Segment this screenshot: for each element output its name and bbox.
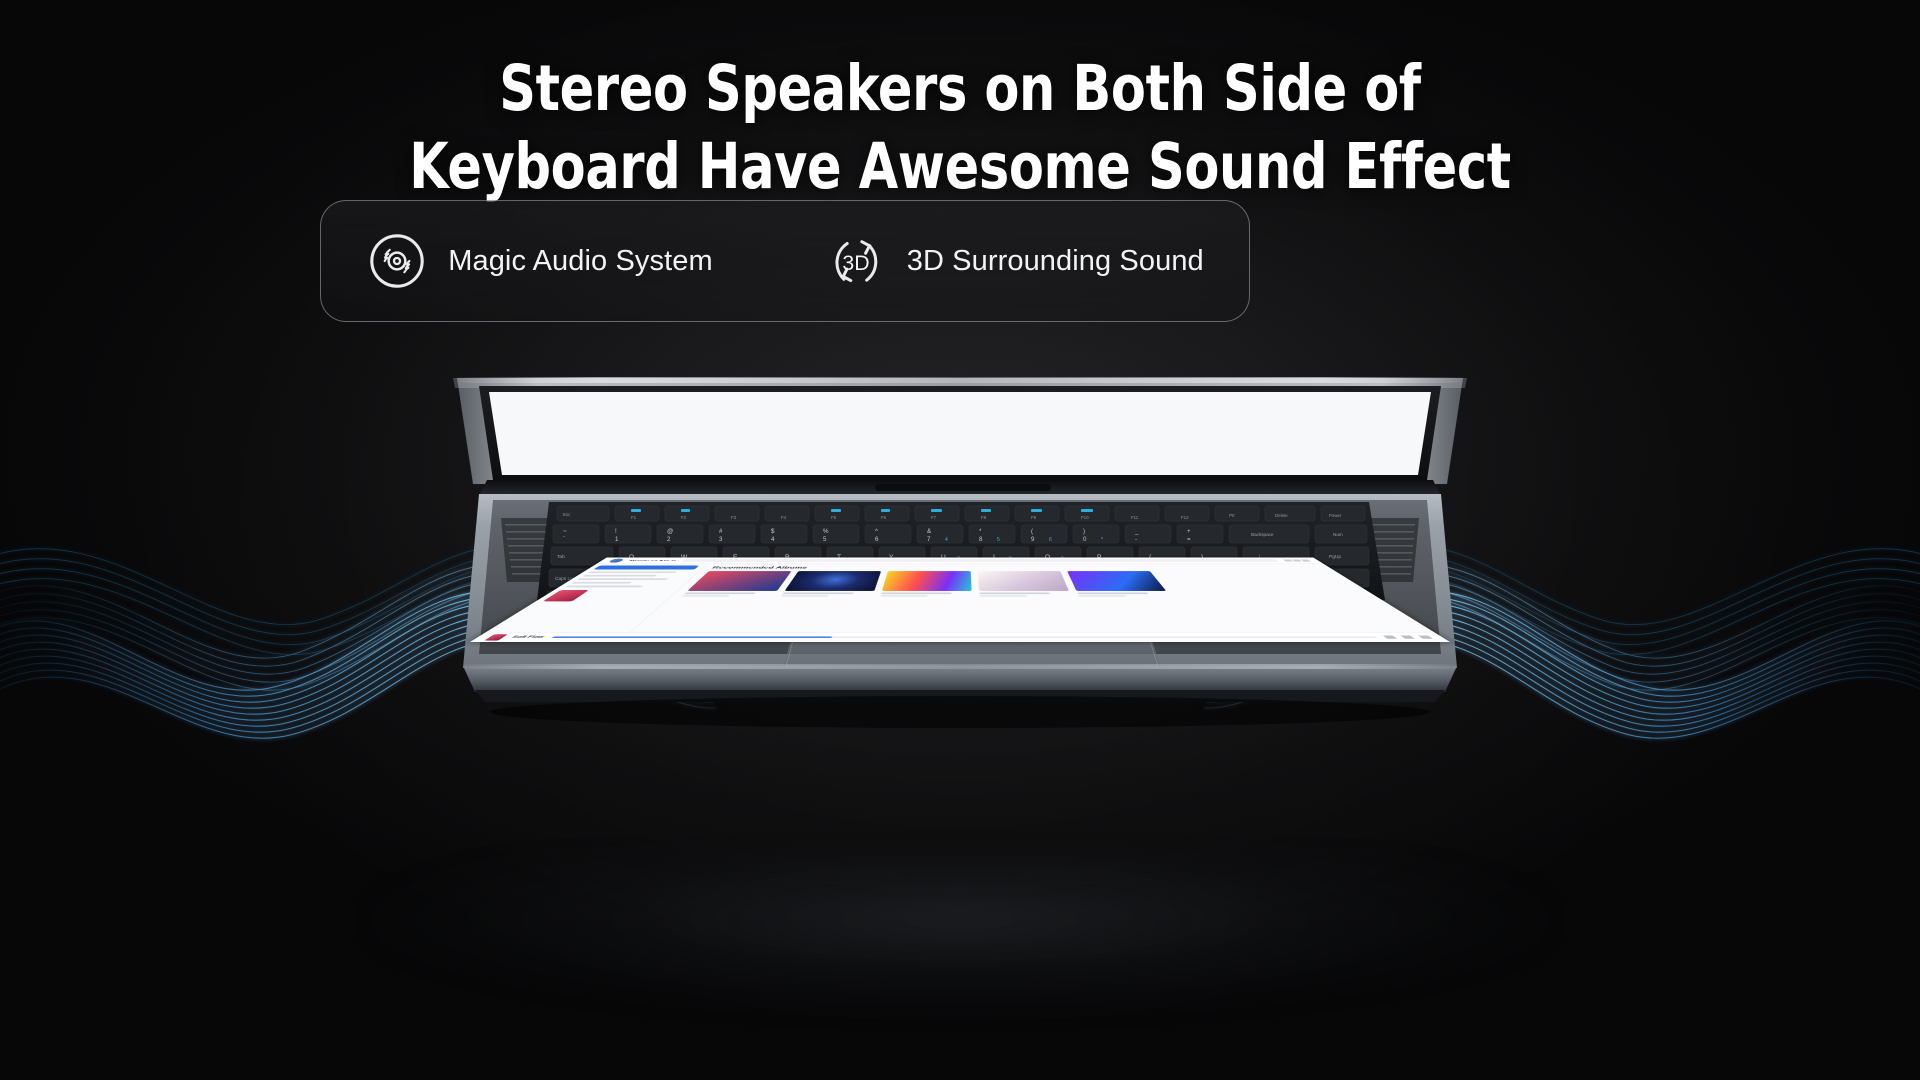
svg-text:H: H [897,576,902,583]
svg-text:Q: Q [629,554,634,561]
svg-text:|: | [1259,554,1260,560]
svg-text:3D: 3D [842,251,869,275]
svg-text:0: 0 [1083,536,1087,543]
floor-glow [370,860,1550,1010]
svg-text:F12: F12 [1181,515,1189,520]
keyboard-number-row: ~` !1 @2 #3 $4 %5 ^6 &7 *8 (9 )0 _- += 4… [553,525,1367,543]
keyboard-home-row: AS DF GH JK L: " 12 3+ Caps Lock Enter P… [549,569,1369,587]
svg-text:Shift: Shift [553,598,563,604]
keyboard-qwerty-row: QW ER TY UI OP {} 78 9- Tab | PgUp [551,547,1369,565]
svg-text:Shift: Shift [1189,598,1199,604]
svg-text:!: ! [615,528,617,535]
svg-text:8: 8 [1009,556,1012,562]
svg-text:?: ? [1119,598,1123,605]
svg-text:9: 9 [1061,556,1064,562]
svg-text:): ) [1083,528,1085,535]
svg-text:~: ~ [563,528,567,535]
svg-text:F: F [793,576,797,583]
svg-text:B: B [859,598,864,605]
svg-text:5: 5 [997,537,1000,543]
svg-text:F10: F10 [1081,515,1089,520]
svg-text:4: 4 [771,536,775,543]
svg-text:.: . [1031,600,1032,606]
svg-text:5: 5 [823,536,827,543]
page-title: Stereo Speakers on Both Side of Keyboard… [96,50,1824,206]
svg-text:<: < [1015,598,1019,605]
svg-text:→: → [1301,621,1306,626]
svg-text:$: $ [771,528,775,535]
svg-text:^: ^ [875,528,878,535]
svg-text:T: T [837,554,841,561]
svg-text:P: P [1097,554,1102,561]
svg-text:+: + [1121,578,1124,584]
svg-text:*: * [1101,537,1103,543]
svg-text:L: L [1053,576,1057,583]
svg-text:R: R [785,554,790,561]
svg-text:Backspace: Backspace [1251,532,1274,537]
svg-text::: : [1105,576,1107,583]
svg-text:7: 7 [927,536,931,543]
svg-text:↓: ↓ [1245,621,1247,626]
svg-text:6: 6 [875,536,879,543]
svg-text:F9: F9 [1031,515,1037,520]
svg-text:1: 1 [615,536,619,543]
svg-text:D: D [741,576,746,583]
headline-line-2: Keyboard Have Awesome Sound Effect [96,128,1824,206]
svg-text:7: 7 [957,556,960,562]
svg-text:F1: F1 [631,515,637,520]
headline-line-1: Stereo Speakers on Both Side of [499,52,1421,125]
feature-label-magic-audio-system: Magic Audio System [448,245,713,278]
svg-text:End: End [1329,598,1338,604]
svg-text:9: 9 [1031,536,1035,543]
svg-text:Ctrl: Ctrl [553,620,560,626]
svg-text:0: 0 [979,600,982,606]
laptop-device: Esc F1F2 F3F4 F5F6 F7F8 F9F10 F11F12 Prt… [445,368,1475,760]
svg-text:S: S [689,576,694,583]
svg-text:PgDn: PgDn [1329,576,1341,582]
svg-text:-: - [1135,536,1137,543]
svg-text:I: I [993,554,995,561]
trackpad [783,618,1161,668]
svg-text:Tab: Tab [557,554,565,560]
svg-text:↑: ↑ [1263,599,1265,604]
banner-stage: Stereo Speakers on Both Side of Keyboard… [0,0,1920,1080]
svg-text:Prt: Prt [1229,513,1235,518]
svg-text:←: ← [1189,621,1194,626]
svg-text:`: ` [563,536,565,543]
svg-text:F11: F11 [1131,515,1139,520]
svg-text:K: K [1001,576,1006,583]
svg-text:6: 6 [1049,537,1052,543]
svg-text:U: U [941,554,946,561]
svg-text:@: @ [667,528,673,535]
feature-3d-surrounding-sound: 3D 3D Surrounding Sound [825,230,1204,292]
svg-text:>: > [1067,598,1071,605]
svg-text:Esc: Esc [563,512,571,517]
svg-text:3: 3 [1069,578,1072,584]
svg-text:F2: F2 [681,515,687,520]
svg-text:F4: F4 [781,515,787,520]
svg-text:PgUp: PgUp [1329,554,1341,560]
svg-text:A: A [637,576,642,583]
svg-text:%: % [823,528,829,535]
vinyl-disc-icon [366,230,428,292]
svg-text:F7: F7 [931,515,937,520]
svg-text:_: _ [1134,528,1139,535]
svg-text:Num: Num [1333,532,1343,537]
svg-text:Delete: Delete [1275,513,1288,518]
svg-text:G: G [845,576,850,583]
svg-text:C: C [755,598,760,605]
svg-text:2: 2 [667,536,671,543]
svg-text:F3: F3 [731,515,737,520]
svg-text:⊞: ⊞ [667,620,671,626]
svg-text:F8: F8 [981,515,987,520]
svg-text:Z: Z [651,598,655,605]
svg-text:V: V [807,598,812,605]
feature-magic-audio-system: Magic Audio System [366,230,713,292]
svg-text:F5: F5 [831,515,837,520]
svg-text:Alt: Alt [725,620,731,626]
svg-text:Caps Lock: Caps Lock [555,576,578,582]
svg-text:2: 2 [1017,578,1020,584]
svg-text:N: N [911,598,916,605]
3d-rotation-icon: 3D [825,230,887,292]
svg-text:Fn: Fn [613,620,619,626]
svg-text:#: # [719,528,723,535]
svg-text:4: 4 [945,537,948,543]
svg-text:+: + [1187,528,1191,535]
svg-text:F6: F6 [881,515,887,520]
svg-text:W: W [681,554,688,561]
svg-text:=: = [1187,536,1191,543]
svg-text:Power: Power [1329,513,1342,518]
feature-pill: Magic Audio System 3D 3D Surrounding Sou… [320,200,1250,322]
svg-text:Y: Y [889,554,894,561]
svg-text:E: E [733,554,738,561]
svg-text:1: 1 [965,578,968,584]
svg-text:Enter: Enter [1245,576,1257,582]
svg-text:J: J [949,576,952,583]
svg-text:8: 8 [979,536,983,543]
feature-label-3d-surrounding-sound: 3D Surrounding Sound [907,245,1204,278]
svg-text:O: O [1045,554,1050,561]
svg-text:X: X [703,598,708,605]
svg-text:3: 3 [719,536,723,543]
svg-text:M: M [963,598,969,605]
